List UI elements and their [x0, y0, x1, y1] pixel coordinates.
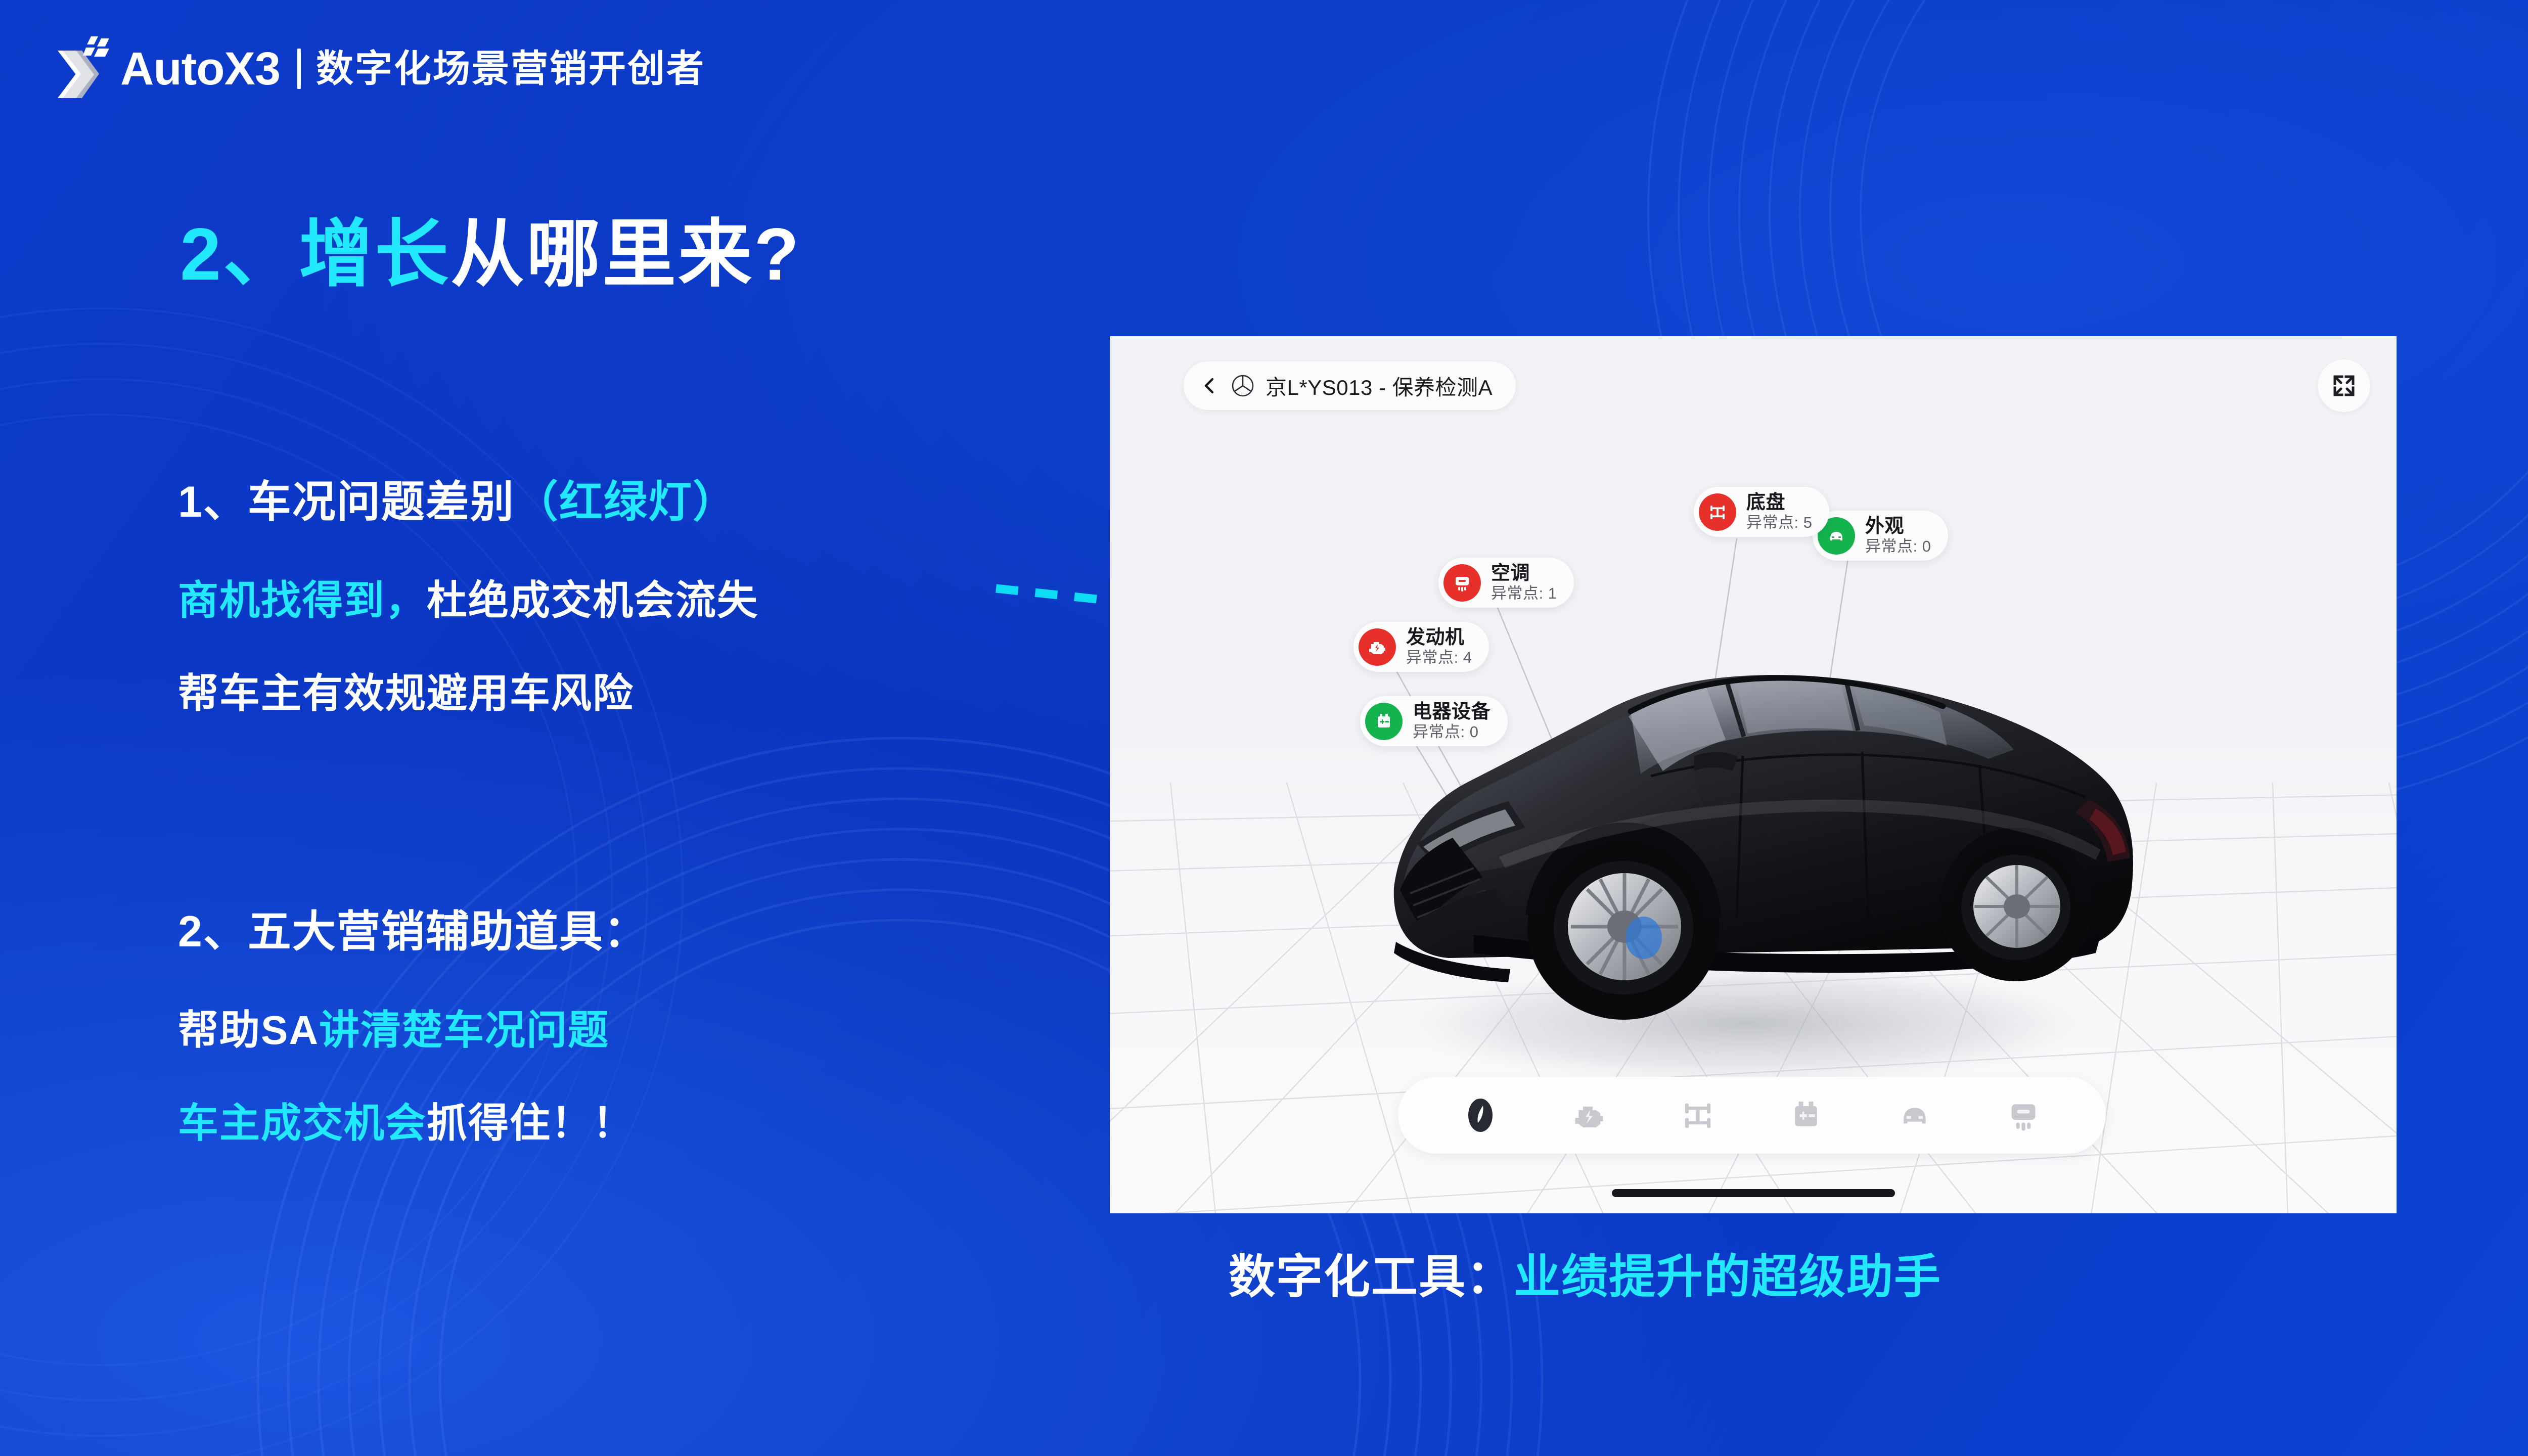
bullet-2-line3-white: 抓得住！！: [427, 1101, 634, 1146]
badge-ac-count: 异常点: 1: [1491, 584, 1557, 603]
engine-icon: [1359, 628, 1396, 666]
brand-divider: [297, 49, 301, 89]
bullet-1-line3-white: 帮车主有效规避用车风险: [178, 671, 634, 716]
autox3-x-logo-icon: [57, 37, 111, 100]
bullet-block-2: 2、五大营销辅助道具： 帮助SA讲清楚车况问题 车主成交机会抓得住！！: [178, 910, 648, 1144]
category-toolbar[interactable]: [1398, 1077, 2106, 1154]
app-screenshot-panel: 京L*YS013 - 保养检测A: [1110, 336, 2397, 1213]
badge-electrical-count: 异常点: 0: [1413, 723, 1491, 742]
bullet-2-line2: 帮助SA讲清楚车况问题: [178, 1010, 648, 1051]
bullet-2-line3-accent: 车主成交机会: [178, 1101, 427, 1146]
page-title-accent: 2、增长: [180, 213, 450, 295]
badge-exterior[interactable]: 外观 异常点: 0: [1813, 511, 1948, 561]
panel-caption-accent: 业绩提升的超级助手: [1514, 1251, 1942, 1303]
bullet-1-lead-white: 1、车况问题差别: [178, 478, 515, 526]
badge-ac-name: 空调: [1491, 563, 1557, 584]
bullet-2-line3: 车主成交机会抓得住！！: [178, 1103, 648, 1144]
toolbar-engine-icon[interactable]: [1569, 1095, 1609, 1135]
bullet-2-line2-white: 帮助SA: [178, 1008, 319, 1053]
badge-chassis-count: 异常点: 5: [1746, 514, 1812, 532]
bullet-2-line2-accent: 讲清楚车况问题: [319, 1008, 609, 1053]
bullet-1-line2-white: 杜绝成交机会流失: [427, 578, 758, 623]
badge-engine-count: 异常点: 4: [1406, 649, 1472, 667]
toolbar-battery-icon[interactable]: [1786, 1095, 1826, 1135]
home-indicator-bar: [1612, 1189, 1895, 1197]
toolbar-car-body-icon[interactable]: [1894, 1095, 1935, 1135]
brand-name: AutoX3: [120, 45, 280, 92]
battery-icon: [1365, 703, 1403, 740]
toolbar-air-conditioner-icon[interactable]: [2003, 1095, 2044, 1135]
page-title: 2、增长从哪里来?: [180, 217, 801, 291]
badge-exterior-name: 外观: [1865, 516, 1931, 537]
brand-tagline: 数字化场景营销开创者: [316, 50, 705, 87]
badge-electrical-name: 电器设备: [1413, 701, 1491, 723]
badge-chassis-name: 底盘: [1746, 492, 1812, 514]
panel-caption: 数字化工具：业绩提升的超级助手: [1229, 1254, 1942, 1300]
brand-bar: AutoX3 数字化场景营销开创者: [57, 37, 705, 100]
bullet-1-lead-accent: （红绿灯）: [515, 478, 737, 526]
badge-chassis[interactable]: 底盘 异常点: 5: [1694, 487, 1829, 537]
bullet-1-line2-accent: 商机找得到，: [178, 578, 427, 623]
chassis-icon: [1699, 493, 1736, 531]
air-conditioner-icon: [1443, 564, 1481, 602]
bullet-1-line2: 商机找得到，杜绝成交机会流失: [178, 580, 758, 621]
bullet-2-lead: 2、五大营销辅助道具：: [178, 910, 648, 953]
vehicle-3d-model[interactable]: [1347, 604, 2177, 1089]
panel-caption-white: 数字化工具：: [1229, 1251, 1514, 1303]
toolbar-oil-drop-icon[interactable]: [1460, 1095, 1501, 1135]
badge-engine-name: 发动机: [1406, 627, 1472, 649]
bullet-1-line3: 帮车主有效规避用车风险: [178, 673, 758, 714]
bullet-2-lead-white: 2、五大营销辅助道具：: [178, 907, 648, 956]
badge-electrical[interactable]: 电器设备 异常点: 0: [1360, 696, 1508, 746]
bullet-block-1: 1、车况问题差别（红绿灯） 商机找得到，杜绝成交机会流失 帮车主有效规避用车风险: [178, 480, 758, 714]
badge-exterior-count: 异常点: 0: [1865, 537, 1931, 556]
badge-air-conditioner[interactable]: 空调 异常点: 1: [1438, 558, 1574, 608]
bullet-1-lead: 1、车况问题差别（红绿灯）: [178, 480, 758, 524]
page-title-rest: 从哪里来?: [450, 213, 801, 295]
toolbar-chassis-icon[interactable]: [1678, 1095, 1718, 1135]
badge-engine[interactable]: 发动机 异常点: 4: [1353, 622, 1489, 672]
